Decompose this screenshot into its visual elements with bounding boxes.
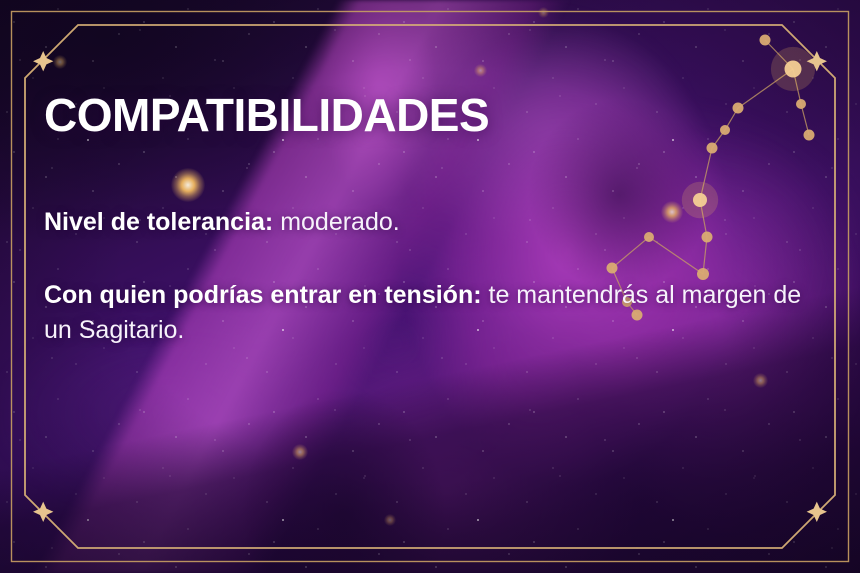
tension-label: Con quien podrías entrar en tensión: bbox=[44, 281, 482, 309]
page-title: COMPATIBILIDADES bbox=[44, 92, 489, 138]
tolerance-label: Nivel de tolerancia: bbox=[44, 208, 273, 236]
horoscope-compatibility-card: COMPATIBILIDADES Nivel de tolerancia: mo… bbox=[0, 0, 860, 573]
tension-paragraph: Con quien podrías entrar en tensión: te … bbox=[44, 278, 804, 347]
tolerance-paragraph: Nivel de tolerancia: moderado. bbox=[44, 205, 400, 240]
sparkle-top-right-icon bbox=[807, 51, 827, 71]
tolerance-value: moderado. bbox=[273, 208, 399, 236]
sparkle-top-left-icon bbox=[33, 51, 53, 71]
sparkle-bottom-right-icon bbox=[807, 502, 827, 522]
sparkle-bottom-left-icon bbox=[33, 502, 53, 522]
